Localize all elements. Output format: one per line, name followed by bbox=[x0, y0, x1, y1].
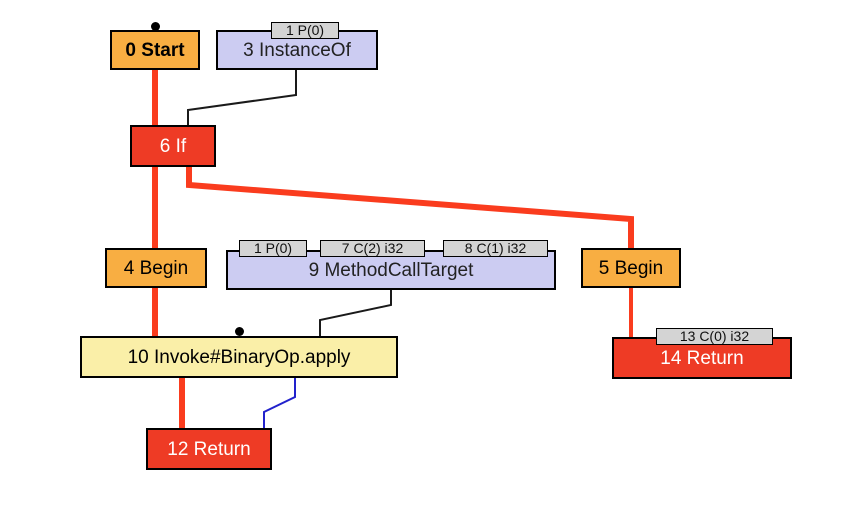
graph-node-label: 9 MethodCallTarget bbox=[309, 261, 474, 280]
graph-node-label: 3 InstanceOf bbox=[243, 41, 351, 60]
anchor-dot-icon bbox=[151, 22, 160, 31]
graph-node-label: 12 Return bbox=[167, 440, 250, 459]
port-label-p7[interactable]: 7 C(2) i32 bbox=[320, 240, 425, 257]
graph-node-label: 6 If bbox=[160, 137, 186, 156]
anchor-dot-icon bbox=[235, 327, 244, 336]
graph-node-n12[interactable]: 12 Return bbox=[146, 428, 272, 470]
edge-control bbox=[189, 167, 631, 248]
graph-node-n6[interactable]: 6 If bbox=[130, 125, 216, 167]
edge-data bbox=[320, 290, 391, 336]
graph-node-n0[interactable]: 0 Start bbox=[110, 30, 200, 70]
edge-data bbox=[188, 70, 296, 125]
graph-node-label: 14 Return bbox=[660, 349, 743, 368]
graph-node-label: 5 Begin bbox=[599, 259, 663, 278]
port-label-p13[interactable]: 13 C(0) i32 bbox=[656, 328, 773, 345]
graph-node-n4[interactable]: 4 Begin bbox=[105, 248, 207, 288]
graph-node-label: 4 Begin bbox=[124, 259, 188, 278]
port-label-p8[interactable]: 8 C(1) i32 bbox=[443, 240, 548, 257]
port-label-p1b[interactable]: 1 P(0) bbox=[239, 240, 307, 257]
graph-canvas: 0 Start3 InstanceOf6 If4 Begin9 MethodCa… bbox=[0, 0, 866, 514]
graph-node-label: 10 Invoke#BinaryOp.apply bbox=[128, 348, 351, 367]
graph-node-n10[interactable]: 10 Invoke#BinaryOp.apply bbox=[80, 336, 398, 378]
graph-node-n5[interactable]: 5 Begin bbox=[581, 248, 681, 288]
graph-node-label: 0 Start bbox=[125, 41, 184, 60]
edge-association bbox=[264, 378, 295, 428]
port-label-p1a[interactable]: 1 P(0) bbox=[271, 22, 339, 39]
